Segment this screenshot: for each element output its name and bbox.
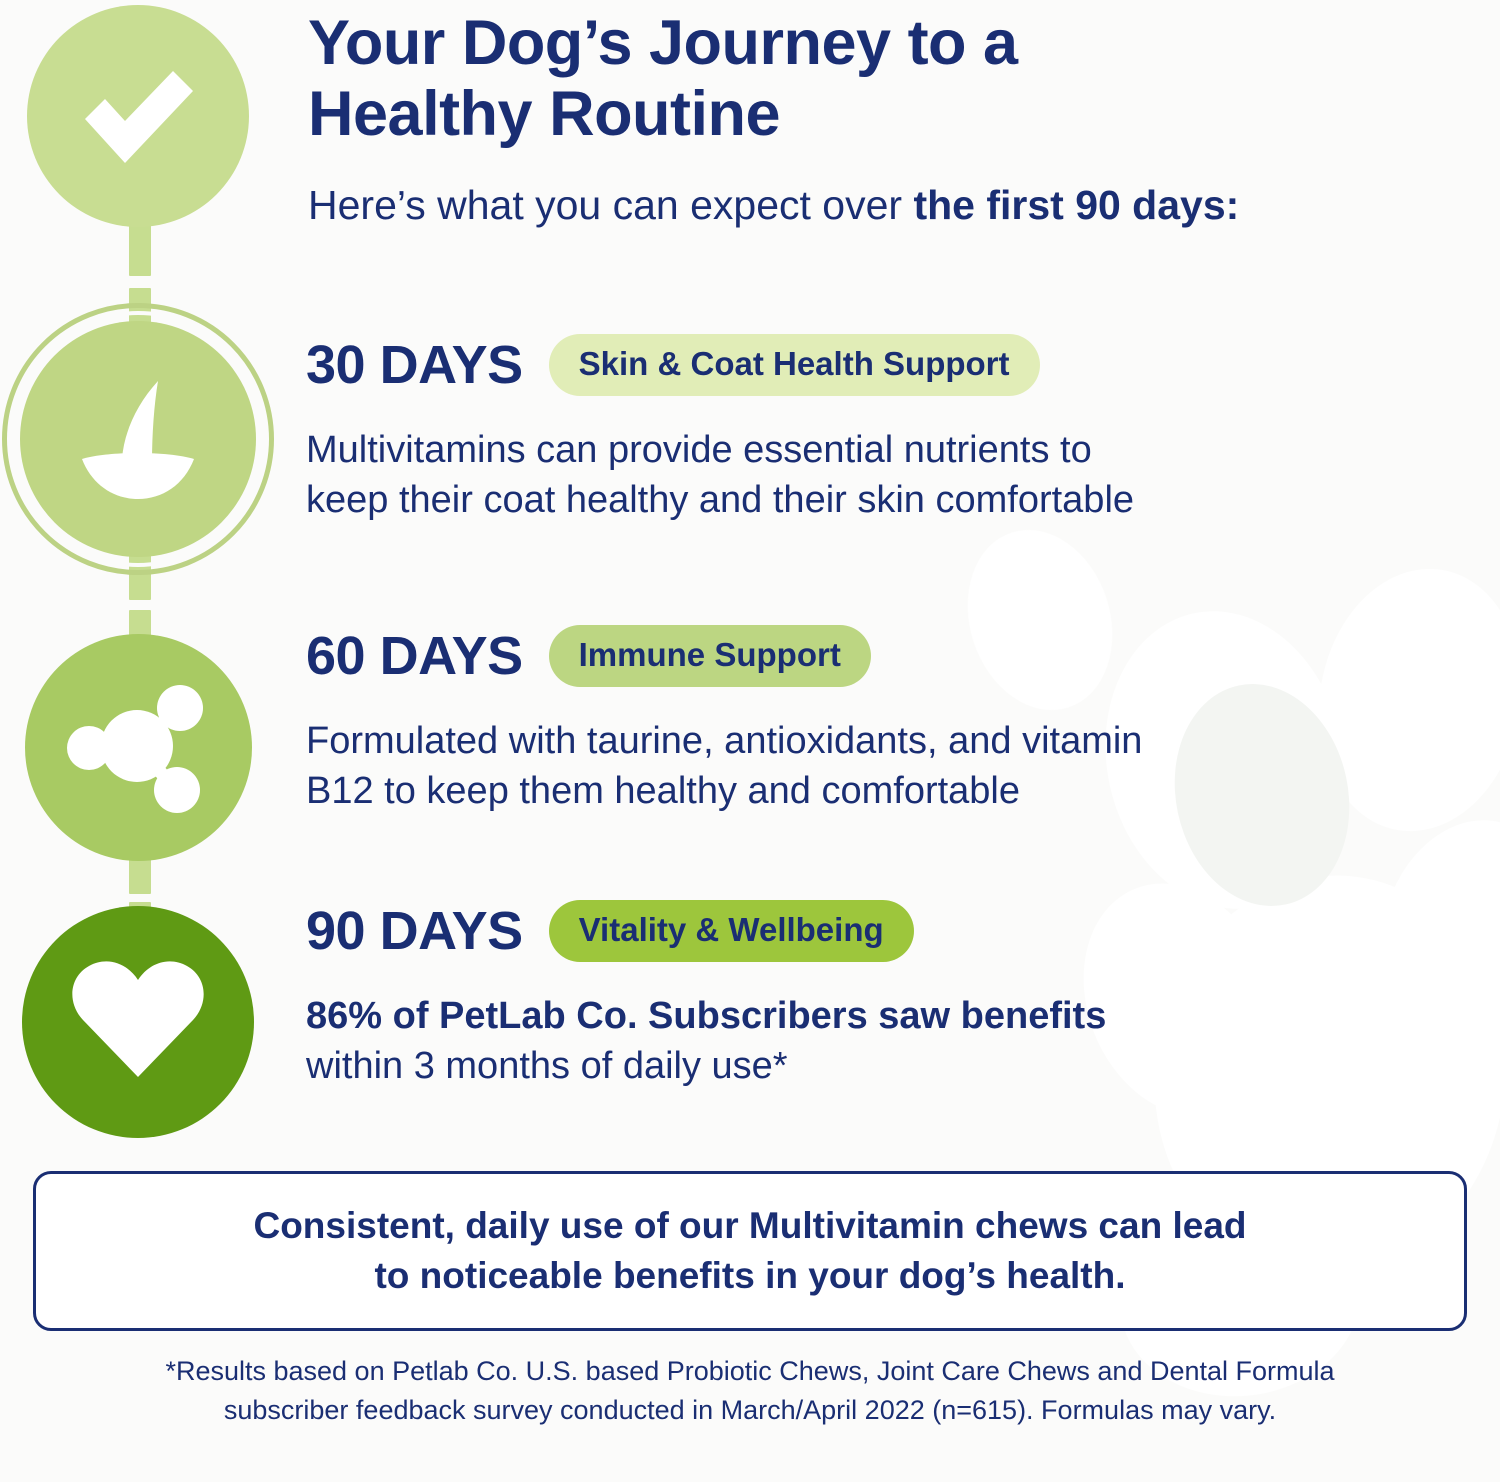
step-30-description-line-2: keep their coat healthy and their skin c…	[306, 479, 1134, 521]
header: Your Dog’s Journey to a Healthy Routine …	[308, 0, 1428, 230]
connector-1a	[129, 224, 151, 276]
step-30-description-line-1: Multivitamins can provide essential nutr…	[306, 429, 1092, 471]
summary-callout-box: Consistent, daily use of our Multivitami…	[33, 1171, 1467, 1331]
step-60-description-line-1: Formulated with taurine, antioxidants, a…	[306, 720, 1142, 762]
summary-callout-text: Consistent, daily use of our Multivitami…	[213, 1201, 1286, 1300]
connector-3a	[129, 856, 151, 894]
footnote-line-2: subscriber feedback survey conducted in …	[0, 1391, 1500, 1430]
step-30-days: 30 DAYS Skin & Coat Health Support Multi…	[306, 331, 1426, 525]
step-30-benefit-badge: Skin & Coat Health Support	[549, 334, 1040, 396]
page-subtitle: Here’s what you can expect over the firs…	[308, 149, 1428, 230]
heart-icon-node	[22, 906, 254, 1138]
check-icon-node	[27, 5, 249, 227]
check-icon	[63, 41, 213, 191]
hair-follicle-icon	[58, 359, 218, 519]
timeline-rail	[0, 0, 290, 1160]
molecule-icon	[59, 668, 219, 828]
step-90-description: 86% of PetLab Co. Subscribers saw benefi…	[306, 991, 1396, 1091]
footnote: *Results based on Petlab Co. U.S. based …	[0, 1352, 1500, 1430]
step-60-days: 60 DAYS Immune Support Formulated with t…	[306, 622, 1426, 816]
page-title-line-1: Your Dog’s Journey to a	[308, 8, 1018, 78]
molecule-icon-node	[25, 634, 252, 861]
step-60-description-line-2: B12 to keep them healthy and comfortable	[306, 770, 1020, 812]
subtitle-prefix: Here’s what you can expect over	[308, 182, 913, 228]
step-30-header: 30 DAYS Skin & Coat Health Support	[306, 331, 1426, 399]
step-30-days-label: 30 DAYS	[306, 338, 523, 392]
page-title: Your Dog’s Journey to a Healthy Routine	[308, 0, 1428, 149]
summary-callout-line-1: Consistent, daily use of our Multivitami…	[253, 1205, 1246, 1246]
step-60-days-label: 60 DAYS	[306, 629, 523, 683]
step-60-benefit-badge: Immune Support	[549, 625, 871, 687]
footnote-line-1: *Results based on Petlab Co. U.S. based …	[0, 1352, 1500, 1391]
subtitle-emphasis: the first 90 days:	[913, 182, 1239, 228]
step-90-days: 90 DAYS Vitality & Wellbeing 86% of PetL…	[306, 897, 1426, 1091]
infographic-root: Your Dog’s Journey to a Healthy Routine …	[0, 0, 1500, 1477]
step-90-benefit-badge: Vitality & Wellbeing	[549, 900, 914, 962]
summary-callout-line-2: to noticeable benefits in your dog’s hea…	[374, 1255, 1125, 1296]
step-90-days-label: 90 DAYS	[306, 904, 523, 958]
step-90-description-stat: 86% of PetLab Co. Subscribers saw benefi…	[306, 995, 1106, 1037]
step-30-description: Multivitamins can provide essential nutr…	[306, 425, 1396, 525]
heart-icon	[63, 947, 213, 1097]
step-60-description: Formulated with taurine, antioxidants, a…	[306, 716, 1396, 816]
step-90-header: 90 DAYS Vitality & Wellbeing	[306, 897, 1426, 965]
page-title-line-2: Healthy Routine	[308, 79, 780, 149]
step-90-description-line-2: within 3 months of daily use*	[306, 1045, 788, 1087]
step-60-header: 60 DAYS Immune Support	[306, 622, 1426, 690]
hair-follicle-icon-node	[20, 321, 256, 557]
